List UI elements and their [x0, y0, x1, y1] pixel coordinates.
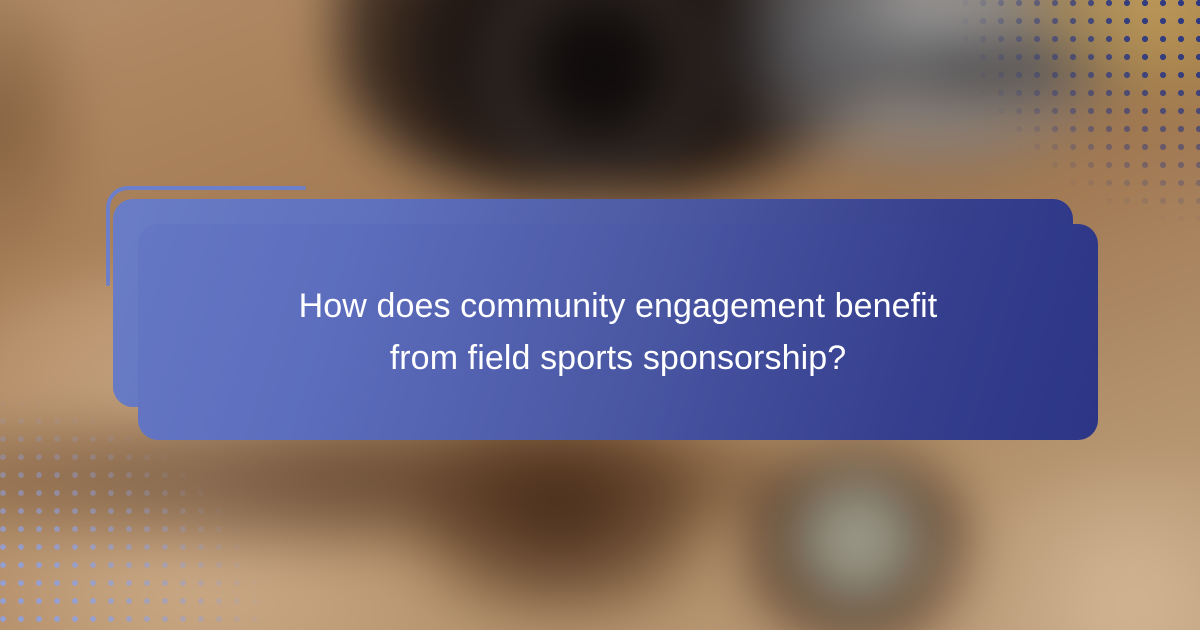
- card-cluster: How does community engagement benefit fr…: [0, 0, 1200, 630]
- page-title: How does community engagement benefit fr…: [245, 280, 992, 384]
- headline-line-2: from field sports sponsorship?: [299, 332, 938, 384]
- headline-line-1: How does community engagement benefit: [299, 280, 938, 332]
- question-card[interactable]: How does community engagement benefit fr…: [138, 224, 1098, 440]
- question-card-canvas: How does community engagement benefit fr…: [0, 0, 1200, 630]
